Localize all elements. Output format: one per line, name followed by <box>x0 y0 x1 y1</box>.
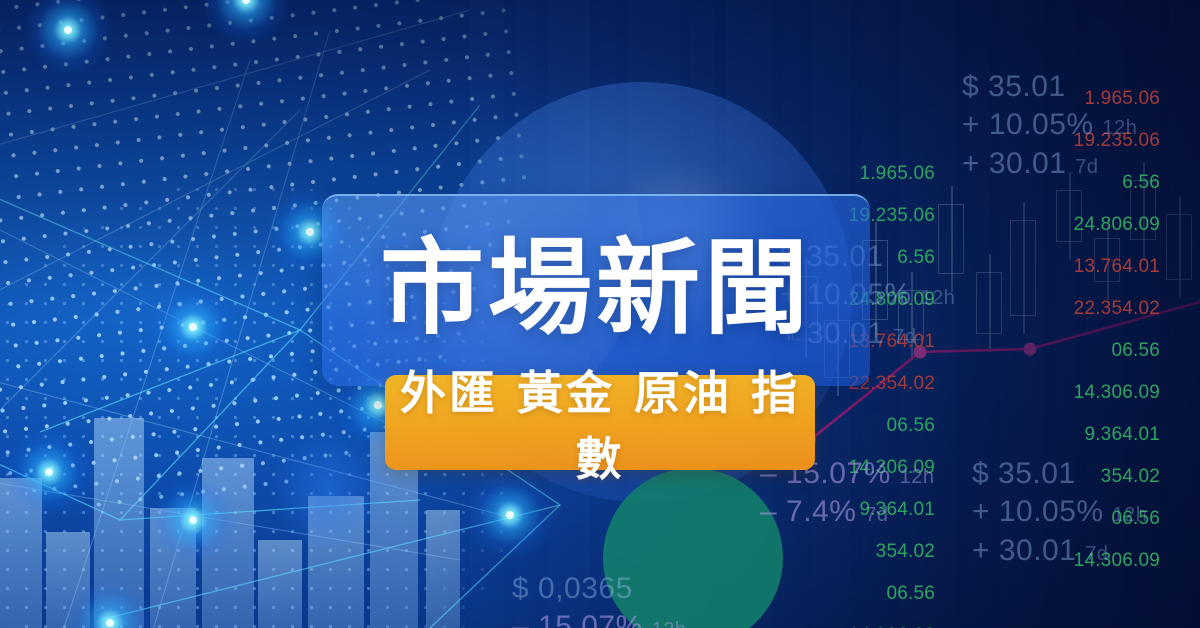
ticker-value: 06.56 <box>886 583 935 605</box>
ticker-value: 14.306.09 <box>1074 382 1160 404</box>
price-change-7d: – 7.4% 7d <box>760 493 935 531</box>
ticker-value: 1.965.06 <box>859 163 935 185</box>
ticker-value: 354.02 <box>876 541 935 563</box>
ticker-value: 06.56 <box>1111 340 1160 362</box>
price-change-12h: + 10.05% 12h <box>962 106 1137 144</box>
price-block-bottom-center: $ 0,0365 – 15.07% 12h – 7.4% 7d <box>512 570 687 628</box>
price-value: $ 35.01 <box>972 455 1147 493</box>
ticker-value: 13.764.01 <box>1074 256 1160 278</box>
ticker-value: 9.364.01 <box>1084 424 1160 446</box>
price-block-bottom-right: $ 35.01 + 10.05% 12h + 30.01 7d <box>972 455 1147 570</box>
ticker-value: 24.806.09 <box>1074 214 1160 236</box>
page-title: 市場新聞 <box>322 236 870 340</box>
price-change-7d: + 30.01 7d <box>962 145 1137 183</box>
price-change-7d: + 30.01 7d <box>972 532 1147 570</box>
market-news-banner: 1.965.0619.235.066.5624.806.0913.764.012… <box>0 0 1200 628</box>
price-change-12h: + 10.05% 12h <box>972 493 1147 531</box>
price-value: $ 0,0365 <box>512 570 687 608</box>
blue-blob-glow <box>268 430 388 550</box>
ticker-value: 06.56 <box>886 415 935 437</box>
categories-button[interactable]: 外匯 黃金 原油 指數 <box>385 375 815 470</box>
price-block-top-right: $ 35.01 + 10.05% 12h + 30.01 7d <box>962 68 1137 183</box>
price-change-12h: – 15.07% 12h <box>512 608 687 628</box>
ticker-value: 22.354.02 <box>1074 298 1160 320</box>
price-value: $ 35.01 <box>962 68 1137 106</box>
